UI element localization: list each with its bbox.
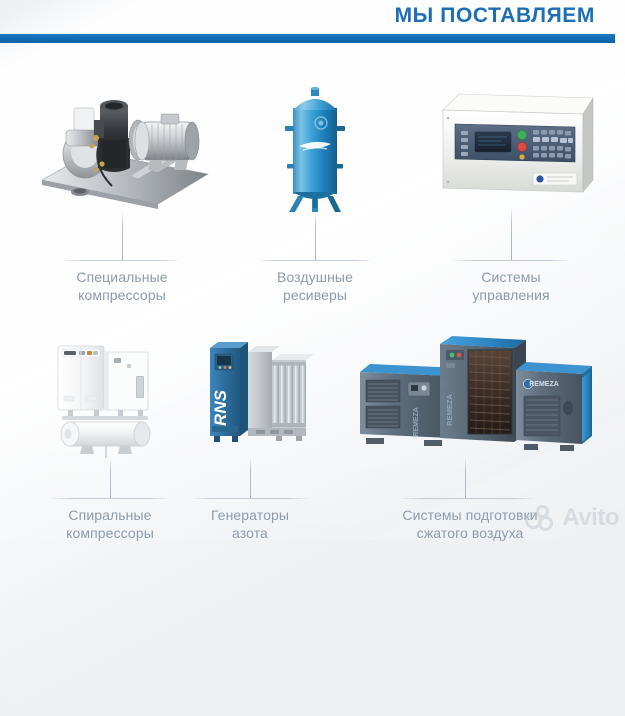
svg-text:REMEZA: REMEZA — [529, 381, 559, 388]
air-receiver-photo — [273, 86, 357, 212]
divider-control-systems — [451, 260, 571, 261]
caption-control-systems: Системы управления — [421, 268, 601, 304]
svg-text:REMEZA: REMEZA — [413, 407, 420, 437]
caption-nitrogen-generators: Генераторы азота — [170, 506, 330, 542]
divider-air-receivers — [257, 260, 375, 261]
connector-line-special-compressors — [122, 212, 123, 260]
product-card-nitrogen-generators[interactable]: RNS — [182, 318, 342, 540]
connector-line-air-treatment — [465, 458, 466, 498]
control-system-photo — [437, 88, 597, 206]
product-card-control-systems[interactable]: Системы управления — [385, 0, 625, 310]
divider-scroll-compressors — [50, 498, 170, 499]
divider-nitrogen-generators — [190, 498, 310, 499]
poster-header: МЫ ПОСТАВЛЯЕМ — [0, 0, 625, 46]
avito-watermark: Avito — [525, 504, 619, 532]
nitrogen-generator-brand: RNS — [211, 389, 230, 426]
divider-special-compressors — [62, 260, 182, 261]
page-title: МЫ ПОСТАВЛЯЕМ — [395, 4, 595, 28]
header-accent-bar — [0, 34, 615, 43]
connector-line-control-systems — [511, 206, 512, 260]
scroll-compressor-photo — [48, 334, 176, 458]
svg-text:REMEZA: REMEZA — [445, 394, 454, 426]
avito-logo-icon — [525, 505, 559, 531]
connector-line-scroll-compressors — [110, 458, 111, 498]
product-card-special-compressors[interactable]: Специальные компрессоры — [0, 0, 245, 310]
nitrogen-generator-photo: RNS — [196, 334, 316, 458]
avito-watermark-text: Avito — [562, 504, 619, 532]
connector-line-air-receivers — [315, 212, 316, 260]
caption-air-receivers: Воздушные ресиверы — [235, 268, 395, 304]
caption-special-compressors: Специальные компрессоры — [22, 268, 222, 304]
product-card-air-receivers[interactable]: Воздушные ресиверы — [245, 0, 385, 310]
divider-air-treatment — [398, 498, 538, 499]
connector-line-nitrogen-generators — [250, 458, 251, 498]
special-compressor-photo — [30, 82, 220, 212]
air-treatment-photo: REMEZA — [348, 326, 598, 458]
